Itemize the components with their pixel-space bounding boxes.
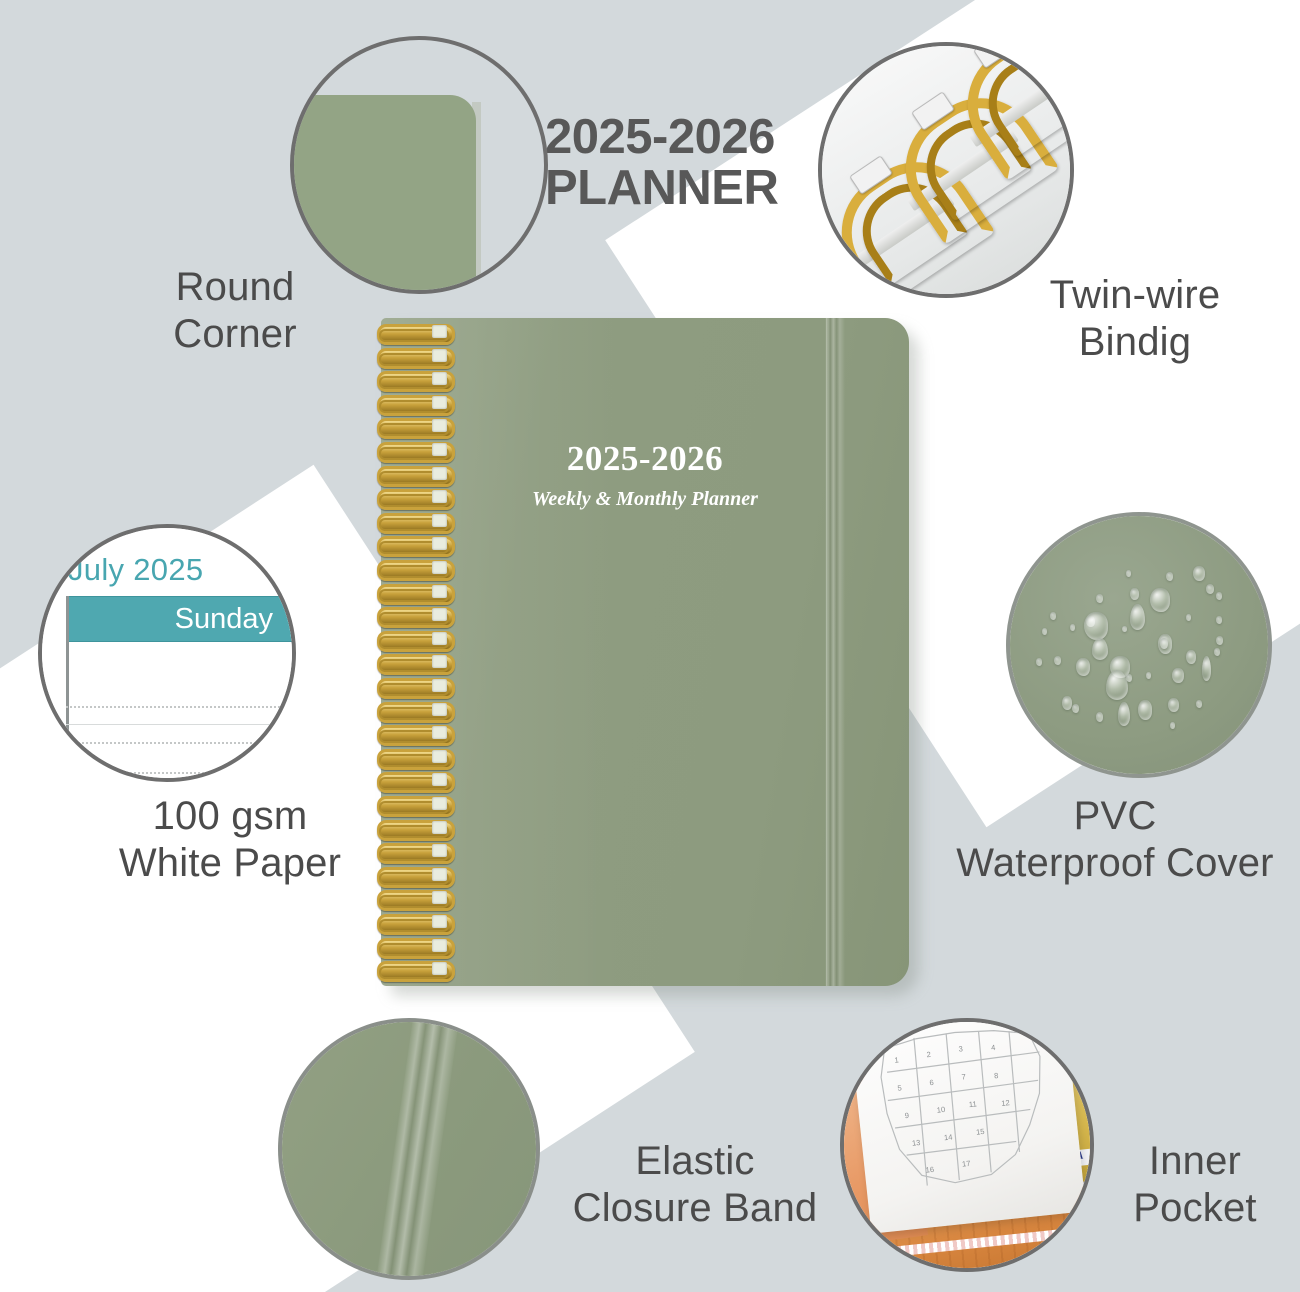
twin-wire-coil <box>377 772 449 789</box>
coil-tip <box>432 608 447 621</box>
twin-wire-coil <box>377 324 449 341</box>
twin-wire-coil <box>377 348 449 365</box>
water-droplet <box>1118 702 1130 726</box>
water-droplet <box>1170 722 1175 729</box>
water-droplet <box>1126 674 1132 682</box>
calendar-dotted-line-2 <box>66 742 296 744</box>
twin-wire-coil <box>377 466 449 483</box>
coil-tip <box>432 915 447 928</box>
feature-label-inner-pocket: Inner Pocket <box>1090 1138 1300 1232</box>
svg-text:13: 13 <box>911 1138 920 1148</box>
calendar-page-sample: July 2025 Sunday <box>42 528 292 778</box>
coil-tip <box>432 349 447 362</box>
coil-tip <box>432 325 447 338</box>
twin-wire-coil <box>377 371 449 388</box>
water-droplet <box>1062 696 1072 710</box>
svg-text:6: 6 <box>929 1078 934 1087</box>
svg-text:8: 8 <box>993 1071 998 1080</box>
water-droplet <box>1166 572 1173 581</box>
twin-wire-coil <box>377 442 449 459</box>
feature-circle-white-paper: July 2025 Sunday <box>38 524 296 782</box>
feature-circle-round-corner <box>290 36 548 294</box>
svg-text:3: 3 <box>958 1045 963 1054</box>
feature-label-white-paper: 100 gsm White Paper <box>70 793 390 887</box>
page-title-line2: PLANNER <box>545 161 778 215</box>
coil-tip <box>432 726 447 739</box>
coil-tip <box>432 773 447 786</box>
coil-tip <box>432 868 447 881</box>
calendar-day-label: Sunday <box>175 603 273 636</box>
twin-wire-coil <box>377 418 449 435</box>
twin-wire-coil <box>377 702 449 719</box>
twin-wire-coil <box>377 513 449 530</box>
svg-text:15: 15 <box>975 1127 984 1137</box>
twin-wire-coil <box>377 914 449 931</box>
coil-tip <box>432 939 447 952</box>
calendar-solid-line-1 <box>66 724 296 725</box>
coil-tip <box>432 396 447 409</box>
water-droplet <box>1216 636 1223 645</box>
twin-wire-coil <box>377 536 449 553</box>
water-droplet <box>1150 588 1170 612</box>
calendar-month-label: July 2025 <box>68 552 203 588</box>
feature-circle-inner-pocket: VISA 1234 5678 9101112 131415 1617 <box>840 1018 1094 1272</box>
water-droplet <box>1216 616 1222 624</box>
coil-tip <box>432 561 447 574</box>
water-droplet <box>1138 700 1152 720</box>
water-droplet <box>1050 612 1056 620</box>
cover-year: 2025-2026 <box>381 440 909 479</box>
waterproof-surface <box>1010 516 1268 774</box>
water-droplet <box>1054 656 1061 665</box>
coil-tip <box>432 585 447 598</box>
twin-wire-coil <box>377 560 449 577</box>
coil-tip <box>432 891 447 904</box>
water-droplet <box>1172 668 1184 683</box>
twin-wire-coil <box>377 961 449 978</box>
water-droplet <box>1186 614 1191 621</box>
coil-tip <box>432 797 447 810</box>
elastic-band-edge <box>826 318 827 986</box>
water-droplet <box>1193 566 1205 581</box>
water-droplet <box>1042 628 1047 635</box>
water-droplet <box>1084 612 1108 640</box>
calendar-day-header-row: Sunday <box>66 596 296 642</box>
twin-wire-coil <box>377 938 449 955</box>
page-title-line1: 2025-2026 <box>545 110 775 164</box>
twin-wire-coil <box>377 890 449 907</box>
feature-circle-waterproof-cover <box>1006 512 1272 778</box>
usa-map-outline-icon: 1234 5678 9101112 131415 1617 <box>848 1018 1086 1225</box>
water-droplet <box>1076 658 1090 676</box>
coil-tip <box>432 372 447 385</box>
water-droplet <box>1186 650 1196 664</box>
svg-text:12: 12 <box>1001 1099 1010 1109</box>
twin-wire-coil <box>377 395 449 412</box>
water-droplet <box>1092 638 1108 660</box>
water-droplet <box>1126 570 1131 577</box>
water-droplet <box>1072 704 1079 713</box>
twin-wire-coil <box>377 489 449 506</box>
water-droplet <box>1130 588 1139 600</box>
svg-text:1: 1 <box>894 1056 899 1065</box>
water-droplet <box>1196 700 1202 708</box>
water-droplet <box>1106 670 1128 700</box>
svg-text:2: 2 <box>926 1050 931 1059</box>
water-droplet <box>1202 656 1211 681</box>
feature-label-elastic-band: Elastic Closure Band <box>545 1138 845 1232</box>
twin-wire-coil <box>377 654 449 671</box>
cover-text-block: 2025-2026 Weekly & Monthly Planner <box>381 440 909 511</box>
twin-wire-coil <box>377 631 449 648</box>
feature-label-twin-wire: Twin-wire Bindig <box>985 272 1285 366</box>
water-droplet <box>1146 672 1151 679</box>
coil-tip <box>432 821 447 834</box>
svg-text:4: 4 <box>990 1043 995 1052</box>
coil-tip <box>432 490 447 503</box>
svg-text:14: 14 <box>943 1133 952 1143</box>
elastic-closure-band-strip <box>825 318 845 986</box>
coil-tip <box>432 467 447 480</box>
coil-tip <box>432 655 447 668</box>
water-droplet <box>1096 712 1103 722</box>
water-droplet <box>1168 698 1179 712</box>
svg-text:7: 7 <box>961 1073 966 1082</box>
coil-tip <box>432 750 447 763</box>
svg-text:10: 10 <box>936 1105 945 1115</box>
svg-text:11: 11 <box>968 1100 977 1110</box>
water-droplet <box>1036 658 1042 666</box>
cover-subtitle: Weekly & Monthly Planner <box>381 488 909 511</box>
svg-text:5: 5 <box>897 1084 902 1093</box>
page-title: 2025-2026 PLANNER <box>545 112 845 215</box>
coil-tip <box>432 844 447 857</box>
coil-tip <box>432 632 447 645</box>
twin-wire-coil <box>377 749 449 766</box>
feature-circle-elastic-band <box>278 1018 540 1280</box>
water-droplet <box>1130 604 1145 630</box>
feature-label-waterproof-cover: PVC Waterproof Cover <box>930 793 1300 887</box>
calendar-dotted-line-1 <box>66 706 296 708</box>
twin-wire-coil <box>377 607 449 624</box>
coil-tip <box>432 962 447 975</box>
coil-tip <box>432 443 447 456</box>
twin-wire-coil <box>377 725 449 742</box>
coil-tip <box>432 514 447 527</box>
infographic-canvas: 2025-2026 PLANNER 2025-2026 Weekly & Mon… <box>0 0 1300 1292</box>
water-droplet <box>1160 638 1168 649</box>
map-page: 1234 5678 9101112 131415 1617 <box>848 1018 1087 1234</box>
coil-tip <box>432 679 447 692</box>
coil-tip <box>432 703 447 716</box>
water-droplet <box>1070 624 1075 631</box>
water-droplet <box>1216 592 1222 600</box>
twin-wire-coil <box>377 584 449 601</box>
svg-text:16: 16 <box>925 1165 934 1175</box>
calendar-dotted-line-3 <box>66 772 296 774</box>
water-droplet <box>1122 626 1127 632</box>
svg-text:17: 17 <box>961 1159 970 1169</box>
coil-tip <box>432 419 447 432</box>
water-droplet <box>1214 648 1220 656</box>
water-droplet <box>1096 594 1103 603</box>
feature-label-round-corner: Round Corner <box>100 264 370 358</box>
twin-wire-coil <box>377 678 449 695</box>
svg-text:9: 9 <box>904 1111 909 1120</box>
feature-circle-twin-wire <box>818 42 1074 298</box>
coil-tip <box>432 537 447 550</box>
planner-cover: 2025-2026 Weekly & Monthly Planner <box>381 318 909 986</box>
water-droplet <box>1206 584 1214 594</box>
planner-product-image: 2025-2026 Weekly & Monthly Planner <box>381 318 909 986</box>
